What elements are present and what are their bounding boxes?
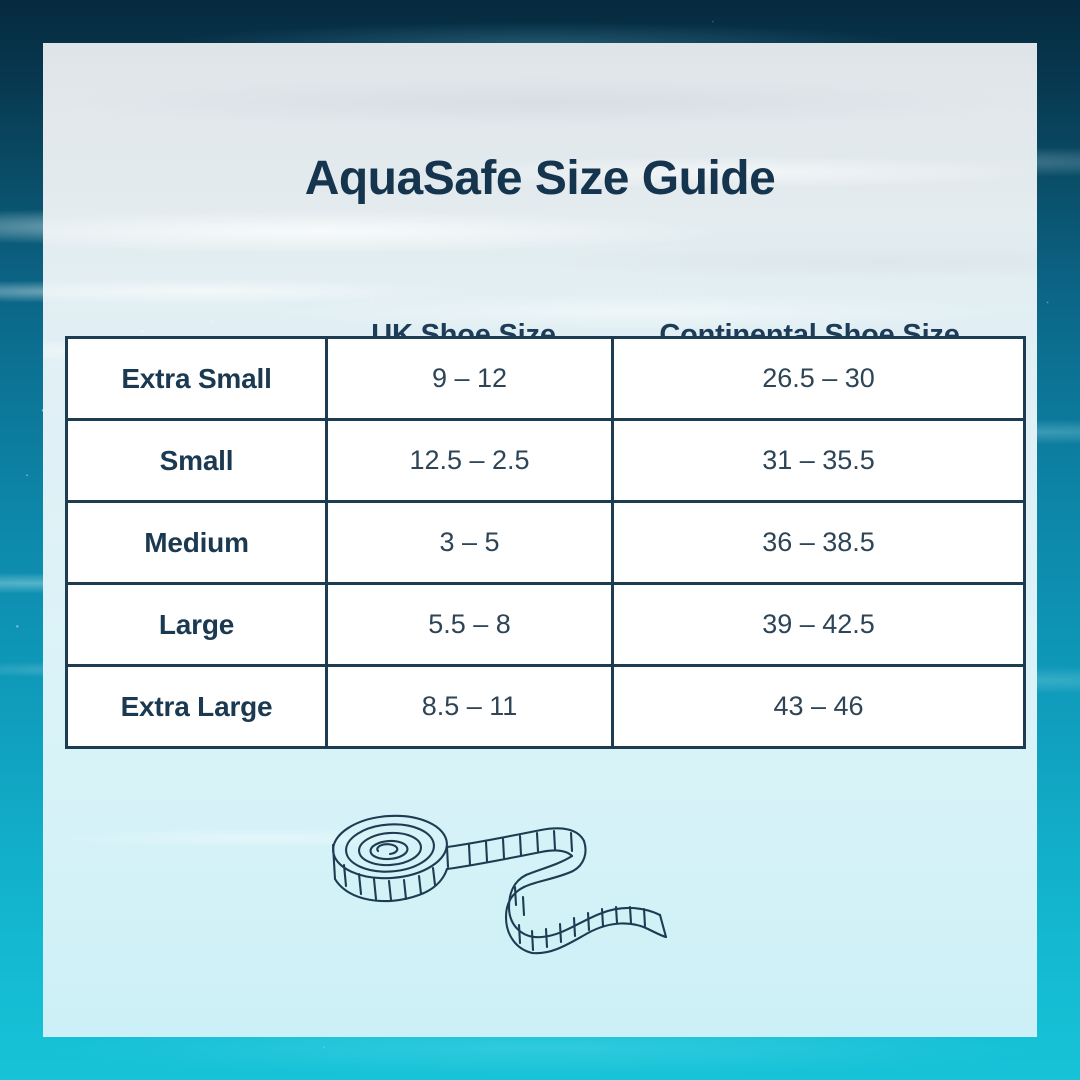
card-content: AquaSafe Size Guide UK Shoe Size Contine… [43,43,1037,1037]
cell-uk-size: 5.5 – 8 [327,584,613,666]
cell-continental-size: 39 – 42.5 [613,584,1025,666]
table-row: Large 5.5 – 8 39 – 42.5 [67,584,1025,666]
cell-continental-size: 26.5 – 30 [613,338,1025,420]
content-card: AquaSafe Size Guide UK Shoe Size Contine… [43,43,1037,1037]
cell-size-label: Large [67,584,327,666]
poster-canvas: AquaSafe Size Guide UK Shoe Size Contine… [0,0,1080,1080]
cell-size-label: Extra Small [67,338,327,420]
cell-uk-size: 3 – 5 [327,502,613,584]
cell-continental-size: 31 – 35.5 [613,420,1025,502]
cell-size-label: Medium [67,502,327,584]
page-title: AquaSafe Size Guide [43,151,1037,206]
table-row: Small 12.5 – 2.5 31 – 35.5 [67,420,1025,502]
table-row: Medium 3 – 5 36 – 38.5 [67,502,1025,584]
size-guide-table: Extra Small 9 – 12 26.5 – 30 Small 12.5 … [65,336,1026,749]
measuring-tape-icon [326,803,756,1003]
cell-size-label: Extra Large [67,666,327,748]
table-row: Extra Small 9 – 12 26.5 – 30 [67,338,1025,420]
size-guide-table-body: Extra Small 9 – 12 26.5 – 30 Small 12.5 … [67,338,1025,748]
table-row: Extra Large 8.5 – 11 43 – 46 [67,666,1025,748]
cell-uk-size: 12.5 – 2.5 [327,420,613,502]
cell-size-label: Small [67,420,327,502]
cell-continental-size: 36 – 38.5 [613,502,1025,584]
cell-uk-size: 8.5 – 11 [327,666,613,748]
cell-continental-size: 43 – 46 [613,666,1025,748]
cell-uk-size: 9 – 12 [327,338,613,420]
